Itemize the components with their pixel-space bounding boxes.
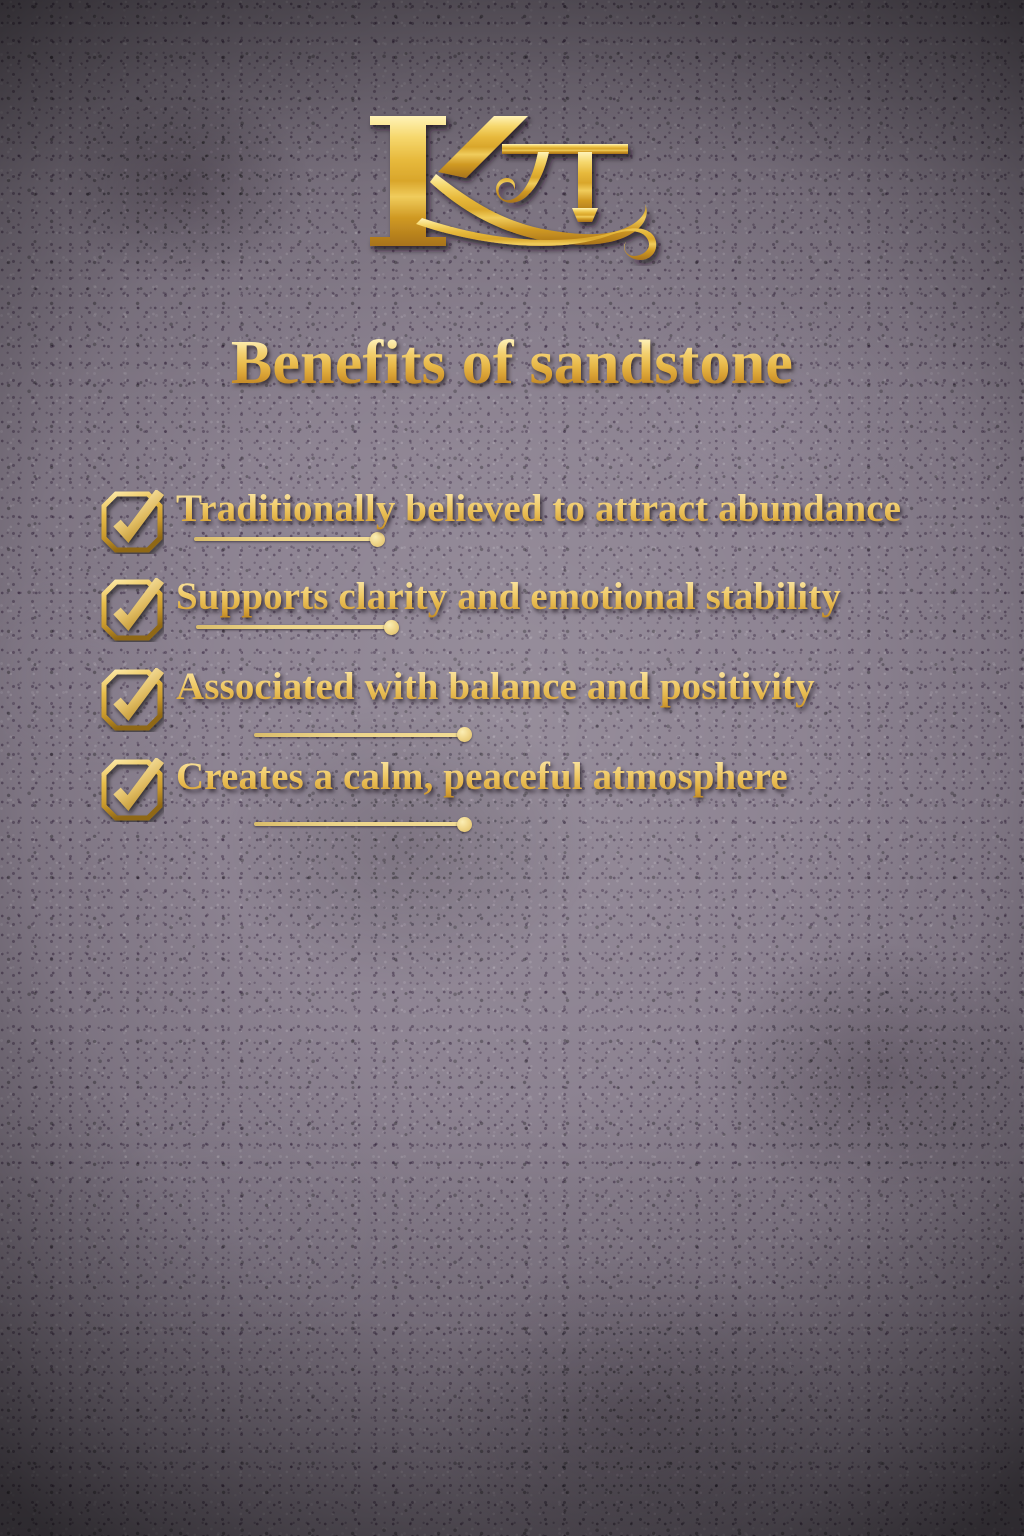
accent-rule (254, 724, 966, 746)
kl-monogram-icon (352, 96, 672, 266)
brand-logo (0, 96, 1024, 266)
list-item-label: Associated with balance and positivity (176, 664, 966, 710)
list-item: Traditionally believed to attract abunda… (0, 486, 1024, 554)
accent-rule (196, 620, 399, 635)
list-item: Creates a calm, peaceful atmosphere (0, 754, 1024, 836)
accent-rule (254, 813, 966, 835)
accent-rule-line (196, 625, 386, 629)
accent-rule-line (254, 822, 459, 826)
list-item-body: Traditionally believed to attract abunda… (176, 486, 1024, 553)
page-title: Benefits of sandstone (0, 332, 1024, 394)
list-item: Associated with balance and positivity (0, 664, 1024, 746)
checkbox-checked-icon (100, 490, 164, 554)
accent-rule-dot (457, 817, 472, 832)
logo-pi-right-foot (572, 208, 598, 222)
logo-pi-left-curl (496, 152, 549, 203)
list-item-label: Creates a calm, peaceful atmosphere (176, 754, 966, 800)
list-item-body: Supports clarity and emotional stability (176, 574, 1024, 641)
accent-rule-dot (370, 532, 385, 547)
accent-rule-line (254, 733, 459, 737)
benefits-list: Traditionally believed to attract abunda… (0, 486, 1024, 857)
accent-rule (194, 532, 385, 547)
poster-canvas: Benefits of sandstone (0, 0, 1024, 1536)
list-item-label: Traditionally believed to attract abunda… (176, 487, 901, 530)
list-item-label: Supports clarity and emotional stability (176, 575, 841, 618)
list-item-body: Creates a calm, peaceful atmosphere (176, 754, 1024, 836)
accent-rule-line (194, 537, 372, 541)
checkbox-checked-icon (100, 668, 164, 732)
checkbox-checked-icon (100, 578, 164, 642)
logo-pi-right-leg (578, 152, 592, 214)
checkbox-checked-icon (100, 758, 164, 822)
logo-pi-top-bar (502, 144, 628, 154)
accent-rule-dot (384, 620, 399, 635)
accent-rule-dot (457, 727, 472, 742)
list-item: Supports clarity and emotional stability (0, 574, 1024, 642)
list-item-body: Associated with balance and positivity (176, 664, 1024, 746)
